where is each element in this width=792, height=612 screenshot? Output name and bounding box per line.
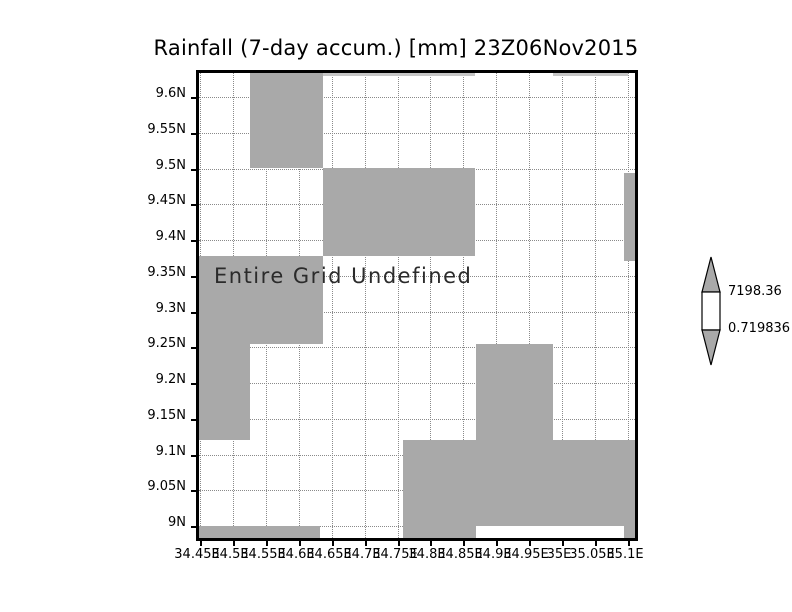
x-axis-tick — [398, 538, 400, 546]
y-axis-tick — [191, 276, 199, 278]
y-axis-tick — [191, 204, 199, 206]
y-axis-tick — [191, 526, 199, 528]
gridline-vertical — [398, 73, 399, 538]
data-block — [199, 526, 320, 538]
y-axis-tick — [191, 133, 199, 135]
colorbar-legend: 7198.36 0.719836 — [698, 256, 724, 366]
y-axis-tick-label: 9.45N — [98, 193, 186, 208]
undefined-grid-annotation: Entire Grid Undefined — [214, 264, 472, 288]
x-axis-tick — [266, 538, 268, 546]
x-axis-tick — [299, 538, 301, 546]
y-axis-tick-label: 9.15N — [98, 408, 186, 423]
data-block — [476, 344, 553, 440]
plot-frame — [196, 70, 638, 541]
x-axis-tick — [463, 538, 465, 546]
data-block — [199, 344, 250, 440]
y-axis-tick-label: 9.5N — [98, 158, 186, 173]
y-axis-tick — [191, 312, 199, 314]
plot-canvas — [199, 73, 635, 538]
x-axis-tick — [430, 538, 432, 546]
gridline-horizontal — [199, 419, 635, 420]
data-block — [476, 526, 624, 538]
y-axis-tick — [191, 169, 199, 171]
y-axis-tick-label: 9.6N — [98, 86, 186, 101]
colorbar-min-label: 0.719836 — [728, 321, 790, 336]
gridline-vertical — [365, 73, 366, 538]
x-axis-tick — [332, 538, 334, 546]
y-axis-tick — [191, 240, 199, 242]
x-axis-tick — [562, 538, 564, 546]
y-axis-tick — [191, 490, 199, 492]
data-block — [323, 168, 475, 256]
colorbar-shape — [698, 256, 724, 366]
y-axis-tick-label: 9.35N — [98, 265, 186, 280]
colorbar-middle-box — [702, 292, 720, 330]
data-block — [553, 73, 628, 76]
page-title: Rainfall (7-day accum.) [mm] 23Z06Nov201… — [0, 36, 792, 60]
y-axis-tick-label: 9.55N — [98, 122, 186, 137]
y-axis-tick-label: 9.4N — [98, 229, 186, 244]
y-axis-tick — [191, 455, 199, 457]
x-axis-tick — [595, 538, 597, 546]
y-axis-tick-label: 9.1N — [98, 444, 186, 459]
y-axis-tick — [191, 419, 199, 421]
data-block — [250, 73, 323, 168]
gridline-vertical — [332, 73, 333, 538]
x-axis-tick — [628, 538, 630, 546]
gridline-horizontal — [199, 347, 635, 348]
y-axis-tick-label: 9.3N — [98, 301, 186, 316]
x-axis-tick — [496, 538, 498, 546]
y-axis-tick-label: 9N — [98, 515, 186, 530]
data-block — [323, 73, 475, 76]
data-block — [403, 440, 635, 538]
x-axis-tick — [365, 538, 367, 546]
colorbar-lower-triangle — [702, 330, 720, 365]
y-axis-tick-label: 9.25N — [98, 336, 186, 351]
y-axis-tick — [191, 347, 199, 349]
colorbar-upper-triangle — [702, 257, 720, 292]
x-axis-tick — [200, 538, 202, 546]
y-axis-tick — [191, 97, 199, 99]
gridline-horizontal — [199, 383, 635, 384]
x-axis-tick-label: 35.1E — [601, 547, 649, 562]
colorbar-max-label: 7198.36 — [728, 284, 782, 299]
y-axis-tick — [191, 383, 199, 385]
y-axis-tick-label: 9.2N — [98, 372, 186, 387]
x-axis-tick — [529, 538, 531, 546]
data-block — [624, 173, 635, 261]
x-axis-tick — [233, 538, 235, 546]
y-axis-tick-label: 9.05N — [98, 479, 186, 494]
